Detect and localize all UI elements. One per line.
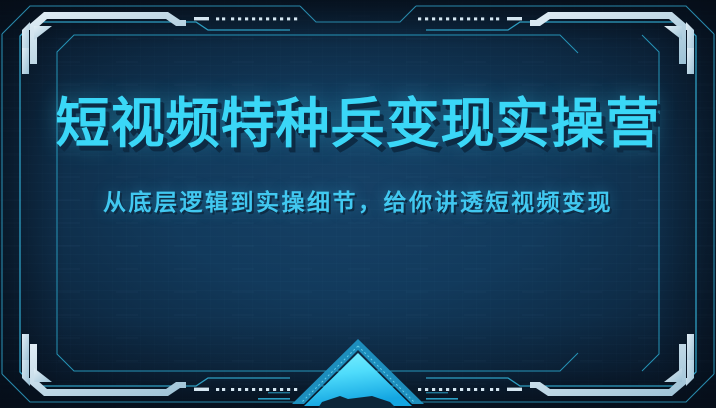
page-subtitle: 从底层逻辑到实操细节，给你讲透短视频变现	[0, 183, 716, 217]
headline-block: 短视频特种兵变现实操营 从底层逻辑到实操细节，给你讲透短视频变现	[0, 96, 716, 217]
promo-banner: 短视频特种兵变现实操营 从底层逻辑到实操细节，给你讲透短视频变现	[0, 0, 716, 408]
page-title: 短视频特种兵变现实操营	[0, 96, 716, 153]
